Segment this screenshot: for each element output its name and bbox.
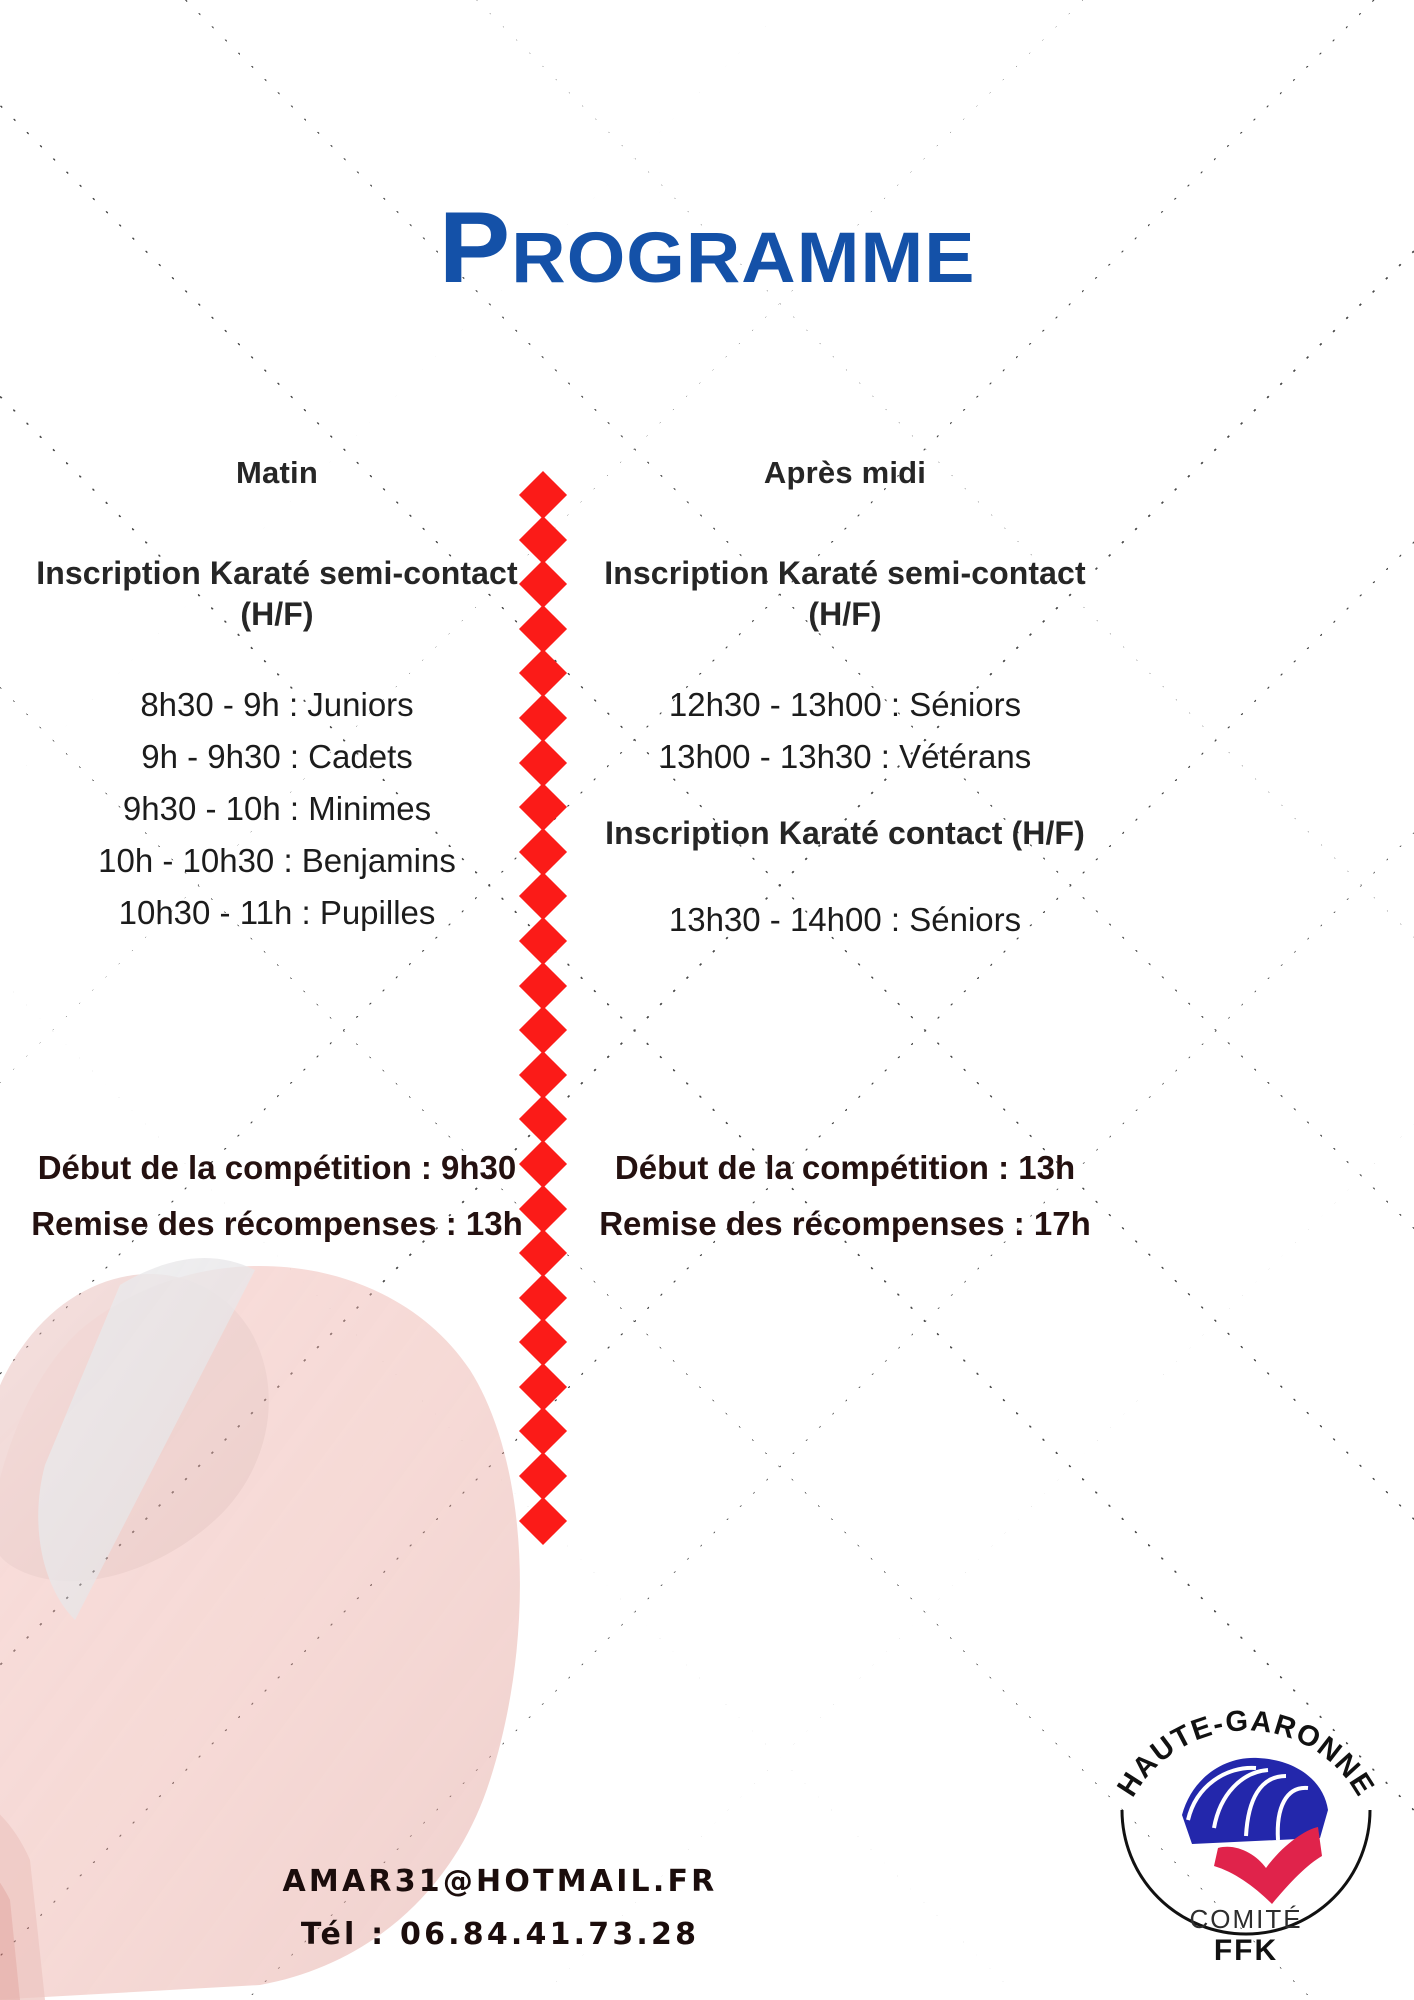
logo-line-ffk: FFK bbox=[1214, 1934, 1278, 1967]
summary-afternoon-start: Début de la compétition : 13h bbox=[580, 1140, 1110, 1196]
summary-morning-awards: Remise des récompenses : 13h bbox=[12, 1196, 542, 1252]
slot-morning-2: 9h - 9h30 : Cadets bbox=[12, 731, 542, 783]
slot-afternoon-contact-1: 13h30 - 14h00 : Séniors bbox=[580, 894, 1110, 946]
schedule-column-morning: Matin Inscription Karaté semi-contact (H… bbox=[12, 455, 542, 1255]
poster-root: Programme Matin Inscription Karaté semi-… bbox=[0, 0, 1414, 2000]
footer-contact: AMAR31@HOTMAIL.FR Tél : 06.84.41.73.28 bbox=[0, 1855, 1000, 1961]
contact-email[interactable]: AMAR31@HOTMAIL.FR bbox=[0, 1855, 1000, 1908]
section-heading-afternoon-line1: Inscription Karaté semi-contact bbox=[580, 553, 1110, 594]
summary-afternoon-awards: Remise des récompenses : 17h bbox=[580, 1196, 1110, 1252]
summary-morning-start: Début de la compétition : 9h30 bbox=[12, 1140, 542, 1196]
column-heading-morning: Matin bbox=[12, 455, 542, 491]
schedule-columns: Matin Inscription Karaté semi-contact (H… bbox=[0, 455, 1414, 1255]
page-title: Programme bbox=[0, 197, 1414, 300]
page-title-text: Programme bbox=[439, 197, 976, 300]
ffk-haute-garonne-logo: HAUTE-GARONNE COMITÉ FFK bbox=[1096, 1660, 1396, 1980]
section-heading-morning-line2: (H/F) bbox=[12, 594, 542, 635]
slot-morning-3: 9h30 - 10h : Minimes bbox=[12, 783, 542, 835]
summary-lines: Début de la compétition : 9h30 Remise de… bbox=[0, 1140, 1414, 1252]
section-heading-morning-line1: Inscription Karaté semi-contact bbox=[12, 553, 542, 594]
logo-line-comite: COMITÉ bbox=[1189, 1904, 1302, 1934]
slot-morning-1: 8h30 - 9h : Juniors bbox=[12, 679, 542, 731]
column-heading-afternoon: Après midi bbox=[580, 455, 1110, 491]
section-heading-afternoon-line2: (H/F) bbox=[580, 594, 1110, 635]
slot-morning-5: 10h30 - 11h : Pupilles bbox=[12, 887, 542, 939]
slot-afternoon-2: 13h00 - 13h30 : Vétérans bbox=[580, 731, 1110, 783]
summary-morning: Début de la compétition : 9h30 Remise de… bbox=[12, 1140, 542, 1252]
schedule-column-afternoon: Après midi Inscription Karaté semi-conta… bbox=[580, 455, 1110, 1255]
summary-afternoon: Début de la compétition : 13h Remise des… bbox=[580, 1140, 1110, 1252]
section-heading-afternoon-contact: Inscription Karaté contact (H/F) bbox=[580, 813, 1110, 854]
slot-morning-4: 10h - 10h30 : Benjamins bbox=[12, 835, 542, 887]
slot-afternoon-1: 12h30 - 13h00 : Séniors bbox=[580, 679, 1110, 731]
contact-phone[interactable]: Tél : 06.84.41.73.28 bbox=[0, 1908, 1000, 1961]
